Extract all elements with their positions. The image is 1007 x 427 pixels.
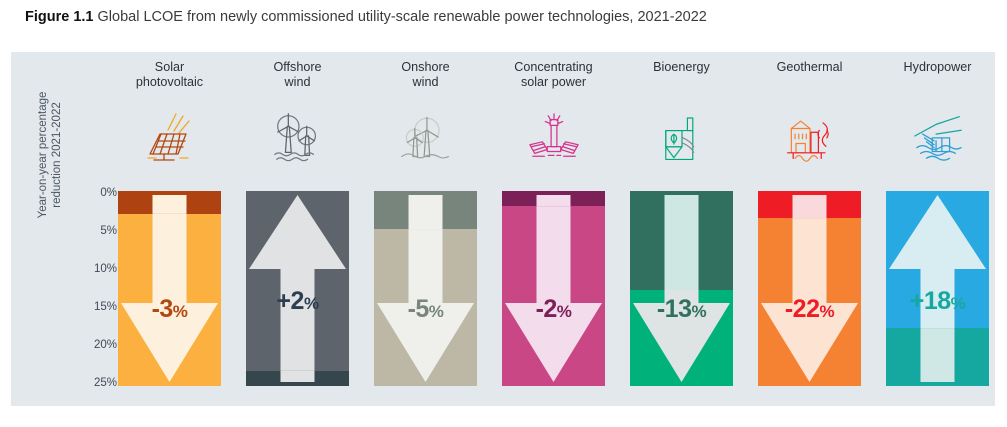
y-axis-tick-10: 10% bbox=[71, 263, 117, 275]
value-number: +2 bbox=[276, 287, 304, 315]
bar-concentrating-solar-power[interactable]: -2% bbox=[502, 191, 605, 386]
bar-hydropower[interactable]: +18% bbox=[886, 191, 989, 386]
column-label-onshore-wind: Onshorewind bbox=[365, 60, 486, 90]
y-axis-tick-0: 0% bbox=[71, 187, 117, 199]
column-label-geothermal: Geothermal bbox=[749, 60, 870, 75]
column-bioenergy: Bioenergy-13% bbox=[630, 52, 733, 406]
solar-panel-icon bbox=[118, 102, 221, 164]
value-number: -5 bbox=[408, 295, 429, 323]
arrow-down bbox=[374, 191, 477, 386]
y-axis-tick-20: 20% bbox=[71, 339, 117, 351]
column-label-line1: Onshore bbox=[365, 60, 486, 75]
column-label-solar-photovoltaic: Solarphotovoltaic bbox=[109, 60, 230, 90]
y-axis-ticks: 0%5%10%15%20%25% bbox=[71, 52, 117, 406]
column-label-line1: Offshore bbox=[237, 60, 358, 75]
column-label-line1: Solar bbox=[109, 60, 230, 75]
hydro-dam-icon bbox=[886, 102, 989, 164]
value-unit: % bbox=[173, 302, 188, 321]
arrow-down bbox=[758, 191, 861, 386]
y-axis-title-line2: reduction 2021-2022 bbox=[50, 62, 64, 248]
column-label-line2: photovoltaic bbox=[109, 75, 230, 90]
column-solar-photovoltaic: Solarphotovoltaic-3% bbox=[118, 52, 221, 406]
bar-columns: Solarphotovoltaic-3%Offshorewind+2%Onsho… bbox=[118, 52, 995, 406]
value-label-hydropower: +18% bbox=[886, 287, 989, 316]
column-label-line1: Geothermal bbox=[749, 60, 870, 75]
value-label-concentrating-solar-power: -2% bbox=[502, 295, 605, 324]
y-axis-title: Year-on-year percentage reduction 2021-2… bbox=[36, 62, 56, 248]
column-geothermal: Geothermal-22% bbox=[758, 52, 861, 406]
value-label-bioenergy: -13% bbox=[630, 295, 733, 324]
figure-title: Global LCOE from newly commissioned util… bbox=[98, 9, 707, 25]
value-unit: % bbox=[951, 294, 966, 313]
y-axis-tick-25: 25% bbox=[71, 377, 117, 389]
value-number: -3 bbox=[152, 295, 173, 323]
offshore-wind-turbine-icon bbox=[246, 102, 349, 164]
value-unit: % bbox=[304, 294, 319, 313]
chart-panel: Year-on-year percentage reduction 2021-2… bbox=[11, 52, 995, 406]
onshore-wind-turbine-icon bbox=[374, 102, 477, 164]
bar-bioenergy[interactable]: -13% bbox=[630, 191, 733, 386]
bar-onshore-wind[interactable]: -5% bbox=[374, 191, 477, 386]
value-unit: % bbox=[429, 302, 444, 321]
column-label-line1: Concentrating bbox=[493, 60, 614, 75]
column-label-hydropower: Hydropower bbox=[877, 60, 998, 75]
figure-caption: Figure 1.1 Global LCOE from newly commis… bbox=[25, 9, 707, 25]
bar-solar-photovoltaic[interactable]: -3% bbox=[118, 191, 221, 386]
bar-offshore-wind[interactable]: +2% bbox=[246, 191, 349, 386]
value-label-solar-photovoltaic: -3% bbox=[118, 295, 221, 324]
column-label-line1: Bioenergy bbox=[621, 60, 742, 75]
arrow-down bbox=[630, 191, 733, 386]
biomass-plant-icon bbox=[630, 102, 733, 164]
column-label-offshore-wind: Offshorewind bbox=[237, 60, 358, 90]
value-label-onshore-wind: -5% bbox=[374, 295, 477, 324]
value-unit: % bbox=[557, 302, 572, 321]
column-onshore-wind: Onshorewind-5% bbox=[374, 52, 477, 406]
value-unit: % bbox=[820, 302, 835, 321]
column-label-line2: solar power bbox=[493, 75, 614, 90]
value-number: +18 bbox=[910, 287, 951, 315]
column-label-line1: Hydropower bbox=[877, 60, 998, 75]
arrow-down bbox=[118, 191, 221, 386]
value-label-offshore-wind: +2% bbox=[246, 287, 349, 316]
y-axis-tick-15: 15% bbox=[71, 301, 117, 313]
column-label-bioenergy: Bioenergy bbox=[621, 60, 742, 75]
value-number: -13 bbox=[657, 295, 692, 323]
value-label-geothermal: -22% bbox=[758, 295, 861, 324]
value-unit: % bbox=[692, 302, 707, 321]
value-number: -22 bbox=[785, 295, 820, 323]
column-offshore-wind: Offshorewind+2% bbox=[246, 52, 349, 406]
arrow-down bbox=[502, 191, 605, 386]
column-label-line2: wind bbox=[365, 75, 486, 90]
figure-number: Figure 1.1 bbox=[25, 9, 94, 25]
column-concentrating-solar-power: Concentratingsolar power-2% bbox=[502, 52, 605, 406]
column-hydropower: Hydropower+18% bbox=[886, 52, 989, 406]
y-axis-title-line1: Year-on-year percentage bbox=[36, 62, 50, 248]
column-label-line2: wind bbox=[237, 75, 358, 90]
solar-tower-icon bbox=[502, 102, 605, 164]
column-label-concentrating-solar-power: Concentratingsolar power bbox=[493, 60, 614, 90]
y-axis-tick-5: 5% bbox=[71, 225, 117, 237]
bar-geothermal[interactable]: -22% bbox=[758, 191, 861, 386]
value-number: -2 bbox=[536, 295, 557, 323]
geothermal-plant-icon bbox=[758, 102, 861, 164]
